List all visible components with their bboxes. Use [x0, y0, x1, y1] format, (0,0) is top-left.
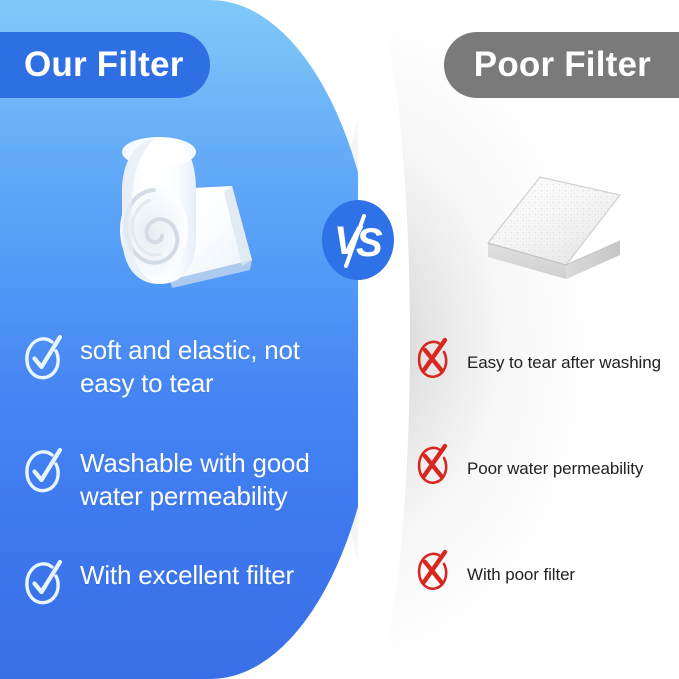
our-filter-badge: Our Filter: [0, 32, 210, 98]
list-item: With excellent filter: [22, 557, 340, 607]
list-item-label: With poor filter: [467, 552, 575, 586]
comparison-infographic: Our Filter Poor Filter: [0, 0, 679, 679]
our-feature-list: soft and elastic, not easy to tear Washa…: [22, 332, 340, 607]
list-item: Washable with good water permeability: [22, 445, 340, 514]
poor-feature-list: Easy to tear after washing Poor water pe…: [415, 340, 673, 592]
list-item: With poor filter: [415, 552, 673, 592]
white-foam-pad-image: [480, 165, 628, 295]
list-item: Easy to tear after washing: [415, 340, 673, 380]
list-item-label: Easy to tear after washing: [467, 340, 661, 374]
cross-circle-icon: [415, 442, 453, 486]
check-circle-icon: [22, 334, 64, 382]
check-circle-icon: [22, 559, 64, 607]
poor-filter-title: Poor Filter: [474, 45, 651, 85]
check-circle-icon: [22, 447, 64, 495]
poor-filter-badge: Poor Filter: [444, 32, 679, 98]
list-item-label: soft and elastic, not easy to tear: [80, 332, 340, 401]
rolled-filter-cotton-image: [92, 130, 258, 292]
list-item-label: With excellent filter: [80, 557, 294, 592]
our-filter-title: Our Filter: [24, 45, 184, 85]
list-item: soft and elastic, not easy to tear: [22, 332, 340, 401]
cross-circle-icon: [415, 336, 453, 380]
vs-badge: V S: [322, 200, 394, 280]
list-item-label: Poor water permeability: [467, 446, 643, 480]
list-item-label: Washable with good water permeability: [80, 445, 340, 514]
list-item: Poor water permeability: [415, 446, 673, 486]
cross-circle-icon: [415, 548, 453, 592]
